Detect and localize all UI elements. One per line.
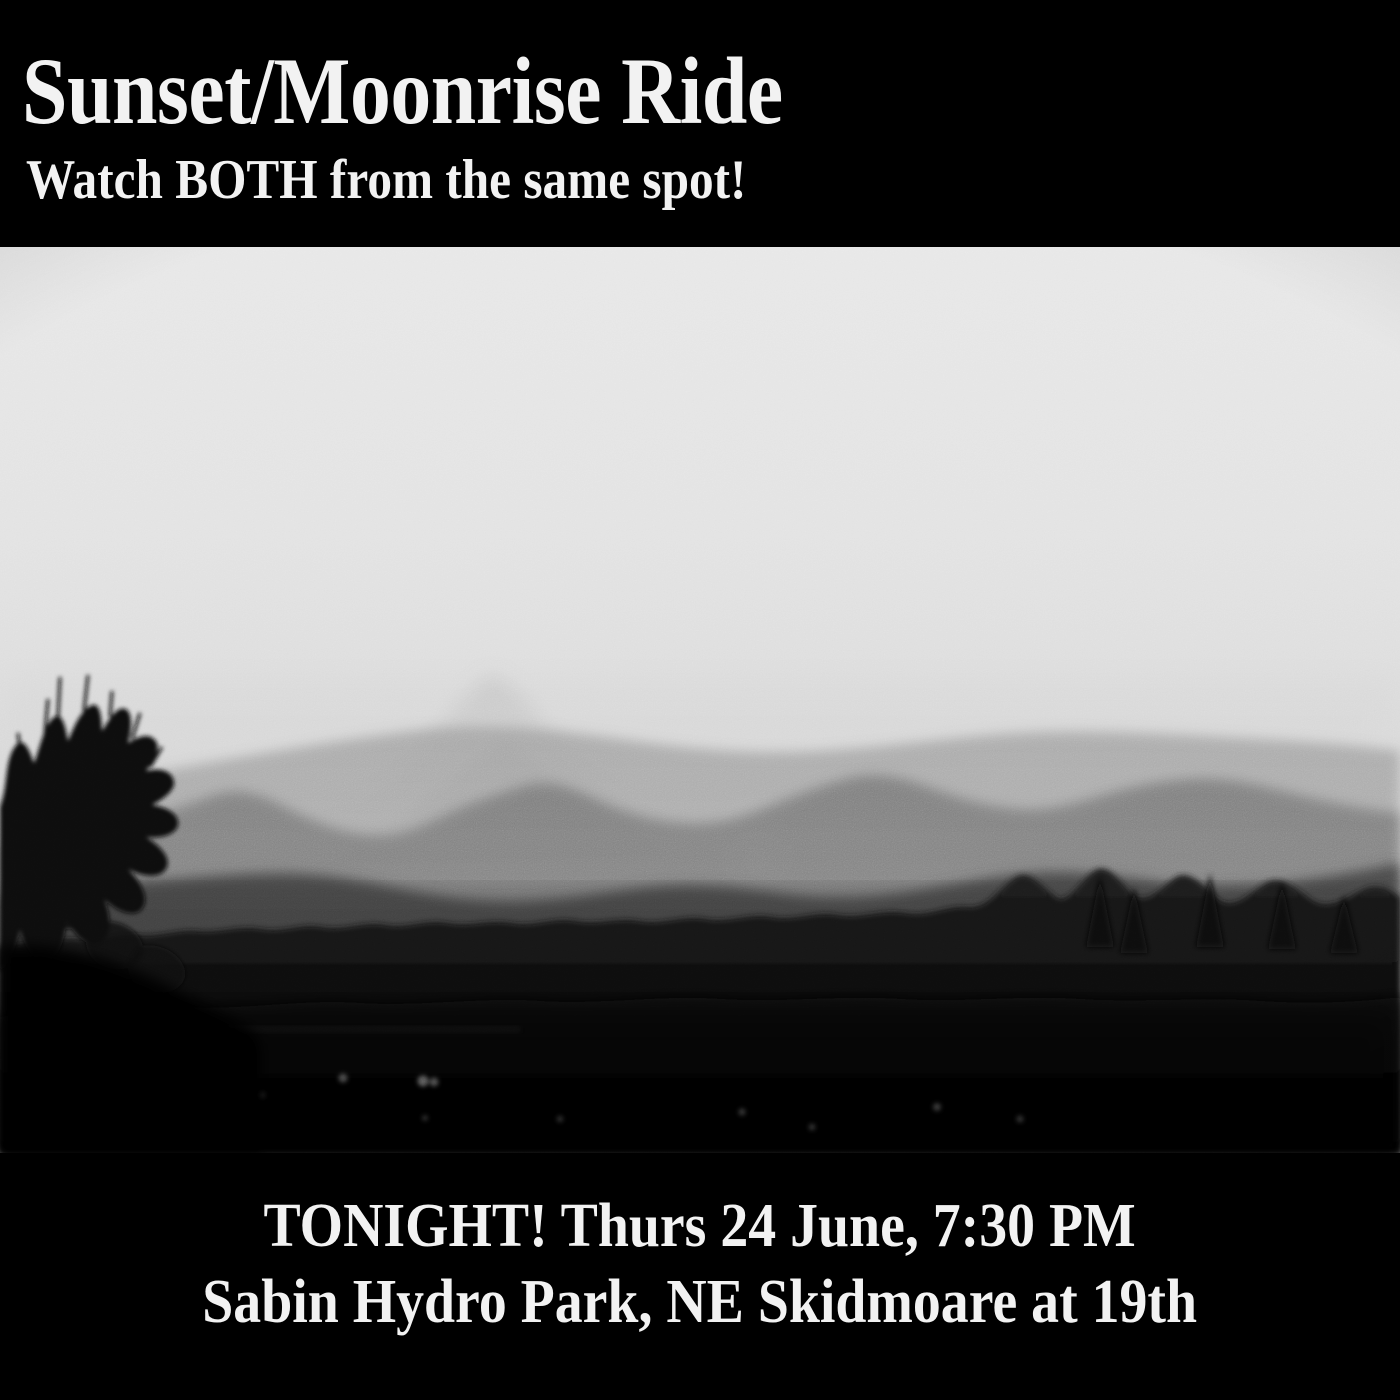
- header-band: Sunset/Moonrise Ride Watch BOTH from the…: [0, 0, 1400, 247]
- bottom-shade: [0, 1007, 1400, 1153]
- event-datetime-text: TONIGHT! Thurs 24 June, 7:30 PM: [264, 1195, 1136, 1257]
- event-location-text: Sabin Hydro Park, NE Skidmoare at 19th: [203, 1271, 1198, 1333]
- photograph: [0, 247, 1400, 1153]
- event-datetime: TONIGHT! Thurs 24 June, 7:30 PM: [0, 1195, 1400, 1257]
- event-location: Sabin Hydro Park, NE Skidmoare at 19th: [0, 1271, 1400, 1333]
- page-title: Sunset/Moonrise Ride: [22, 44, 783, 139]
- page-subtitle: Watch BOTH from the same spot!: [26, 152, 746, 208]
- footer-band: TONIGHT! Thurs 24 June, 7:30 PM Sabin Hy…: [0, 1153, 1400, 1400]
- photo-scene: [0, 247, 1400, 1153]
- poster-root: Sunset/Moonrise Ride Watch BOTH from the…: [0, 0, 1400, 1400]
